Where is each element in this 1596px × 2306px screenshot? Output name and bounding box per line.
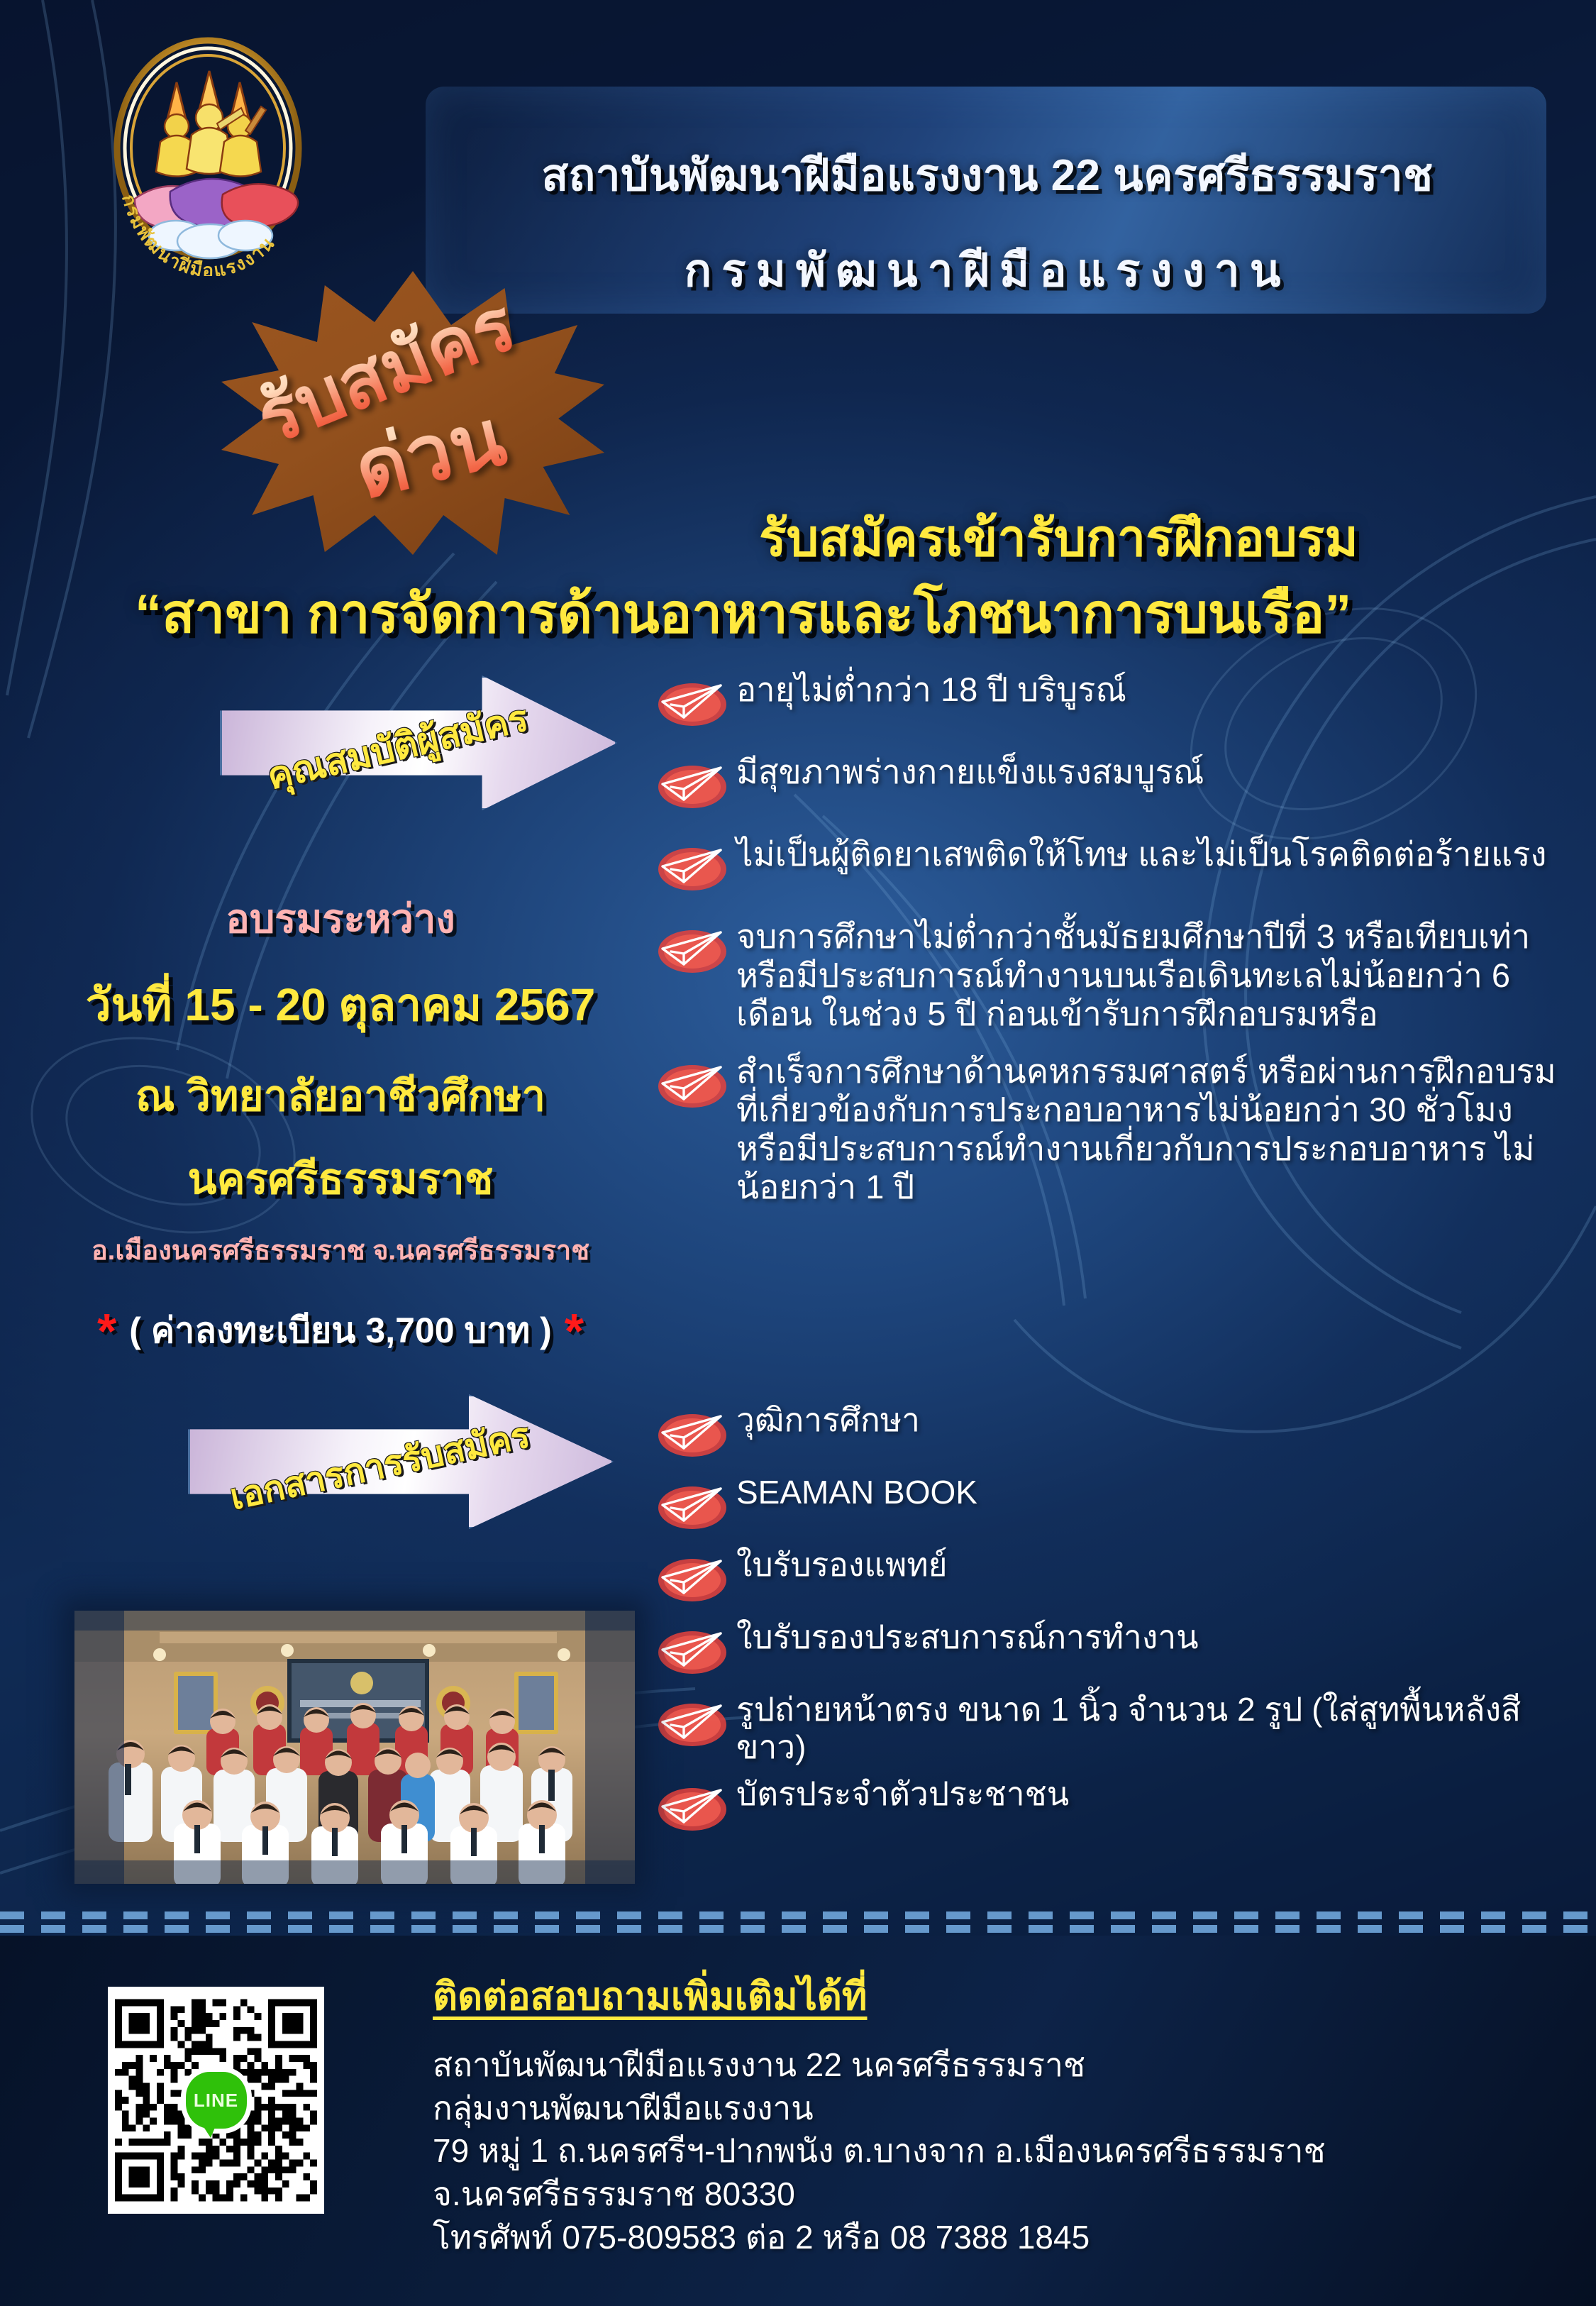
schedule-date-range: วันที่ 15 - 20 ตุลาคม 2567 xyxy=(43,969,638,1041)
contact-heading: ติดต่อสอบถามเพิ่มเติมได้ที่ xyxy=(433,1965,1539,2026)
venue-line-1: ณ วิทยาลัยอาชีวศึกษา xyxy=(43,1062,638,1130)
schedule-block: อบรมระหว่าง วันที่ 15 - 20 ตุลาคม 2567 ณ… xyxy=(43,887,638,1359)
document-item-text: วุฒิการศึกษา xyxy=(736,1401,920,1439)
qualifications-list: อายุไม่ต่ำกว่า 18 ปี บริบูรณ์มีสุขภาพร่า… xyxy=(653,671,1568,1225)
line-logo-icon: LINE xyxy=(183,2069,250,2131)
venue-line-2: นครศรีธรรมราช xyxy=(43,1145,638,1213)
document-item: วุฒิการศึกษา xyxy=(653,1401,1539,1465)
org-name-institute: สถาบันพัฒนาฝีมือแรงงาน 22 นครศรีธรรมราช xyxy=(434,140,1541,210)
arrow-label-documents: เอกสารการรับสมัคร xyxy=(157,1356,602,1577)
poster-root: สถาบันพัฒนาฝีมือแรงงาน 22 นครศรีธรรมราช … xyxy=(0,0,1596,2306)
document-item: รูปถ่ายหน้าตรง ขนาด 1 นิ้ว จำนวน 2 รูป (… xyxy=(653,1691,1539,1767)
qualification-item: ไม่เป็นผู้ติดยาเสพติดให้โทษ และไม่เป็นโร… xyxy=(653,835,1568,899)
paper-plane-icon xyxy=(653,1694,731,1755)
contact-block: ติดต่อสอบถามเพิ่มเติมได้ที่ สถาบันพัฒนาฝ… xyxy=(433,1965,1539,2259)
line-logo-text: LINE xyxy=(194,2090,238,2112)
document-item: ใบรับรองประสบการณ์การทำงาน xyxy=(653,1618,1539,1682)
registration-fee: ( ค่าลงทะเบียน 3,700 บาท ) xyxy=(129,1303,551,1359)
contact-line: สถาบันพัฒนาฝีมือแรงงาน 22 นครศรีธรรมราช xyxy=(433,2043,1539,2087)
venue-district: อ.เมืองนครศรีธรรมราช จ.นครศรีธรรมราช xyxy=(43,1228,638,1271)
document-item: ใบรับรองแพทย์ xyxy=(653,1546,1539,1610)
qualification-item-text: อายุไม่ต่ำกว่า 18 ปี บริบูรณ์ xyxy=(736,671,1126,710)
contact-line: 79 หมู่ 1 ถ.นครศรีฯ-ปากพนัง ต.บางจาก อ.เ… xyxy=(433,2129,1539,2173)
paper-plane-icon xyxy=(653,1621,731,1682)
document-item-text: ใบรับรองแพทย์ xyxy=(736,1546,948,1584)
paper-plane-icon xyxy=(653,1778,731,1839)
contact-line: กลุ่มงานพัฒนาฝีมือแรงงาน xyxy=(433,2087,1539,2130)
qualification-item: มีสุขภาพร่างกายแข็งแรงสมบูรณ์ xyxy=(653,753,1568,817)
page-subtitle-course: “สาขา การจัดการด้านอาหารและโภชนาการบนเรื… xyxy=(135,571,1351,656)
arrow-label-qualifications: คุณสมบัติผู้สมัคร xyxy=(189,636,606,856)
qr-canvas: LINE xyxy=(115,1994,317,2207)
document-item-text: บัตรประจำตัวประชาชน xyxy=(736,1775,1069,1813)
arrow-banner-documents: เอกสารการรับสมัคร xyxy=(188,1394,614,1529)
fee-row: * ( ค่าลงทะเบียน 3,700 บาท ) * xyxy=(43,1303,638,1359)
line-qr-code[interactable]: LINE xyxy=(108,1987,324,2214)
qualification-item-text: สำเร็จการศึกษาด้านคหกรรมศาสตร์ หรือผ่านก… xyxy=(736,1052,1568,1207)
paper-plane-icon xyxy=(653,673,731,734)
paper-plane-icon xyxy=(653,1404,731,1465)
urgent-starburst: รับสมัคร ด่วน xyxy=(221,271,604,555)
arrow-banner-qualifications: คุณสมบัติผู้สมัคร xyxy=(220,675,617,810)
contact-line: โทรศัพท์ 075-809583 ต่อ 2 หรือ 08 7388 1… xyxy=(433,2216,1539,2259)
contact-lines: สถาบันพัฒนาฝีมือแรงงาน 22 นครศรีธรรมราชก… xyxy=(433,2043,1539,2259)
document-item: บัตรประจำตัวประชาชน xyxy=(653,1775,1539,1839)
section-divider xyxy=(0,1911,1596,1936)
contact-line: จ.นครศรีธรรมราช 80330 xyxy=(433,2173,1539,2216)
divider-row-bottom xyxy=(0,1925,1596,1933)
asterisk-left-icon: * xyxy=(97,1316,116,1346)
asterisk-right-icon: * xyxy=(565,1316,584,1346)
qualification-item-text: ไม่เป็นผู้ติดยาเสพติดให้โทษ และไม่เป็นโร… xyxy=(736,835,1547,874)
divider-row-top xyxy=(0,1911,1596,1919)
paper-plane-icon xyxy=(653,920,731,981)
qualification-item: จบการศึกษาไม่ต่ำกว่าชั้นมัธยมศึกษาปีที่ … xyxy=(653,917,1568,1034)
paper-plane-icon xyxy=(653,838,731,899)
schedule-during-label: อบรมระหว่าง xyxy=(43,887,638,950)
qualification-item: อายุไม่ต่ำกว่า 18 ปี บริบูรณ์ xyxy=(653,671,1568,734)
group-photo xyxy=(74,1611,635,1884)
page-title: รับสมัครเข้ารับการฝึกอบรม xyxy=(759,497,1358,578)
dsd-emblem-icon: กรมพัฒนาฝีมือแรงงาน xyxy=(91,31,325,276)
paper-plane-icon xyxy=(653,1549,731,1610)
document-item-text: รูปถ่ายหน้าตรง ขนาด 1 นิ้ว จำนวน 2 รูป (… xyxy=(736,1691,1539,1767)
paper-plane-icon xyxy=(653,756,731,817)
qualification-item: สำเร็จการศึกษาด้านคหกรรมศาสตร์ หรือผ่านก… xyxy=(653,1052,1568,1207)
qualification-item-text: มีสุขภาพร่างกายแข็งแรงสมบูรณ์ xyxy=(736,753,1204,792)
documents-list: วุฒิการศึกษาSEAMAN BOOKใบรับรองแพทย์ใบรั… xyxy=(653,1401,1539,1848)
qualification-item-text: จบการศึกษาไม่ต่ำกว่าชั้นมัธยมศึกษาปีที่ … xyxy=(736,917,1568,1034)
paper-plane-icon xyxy=(653,1477,731,1538)
document-item: SEAMAN BOOK xyxy=(653,1474,1539,1538)
document-item-text: ใบรับรองประสบการณ์การทำงาน xyxy=(736,1618,1199,1656)
paper-plane-icon xyxy=(653,1055,731,1116)
document-item-text: SEAMAN BOOK xyxy=(736,1474,977,1511)
